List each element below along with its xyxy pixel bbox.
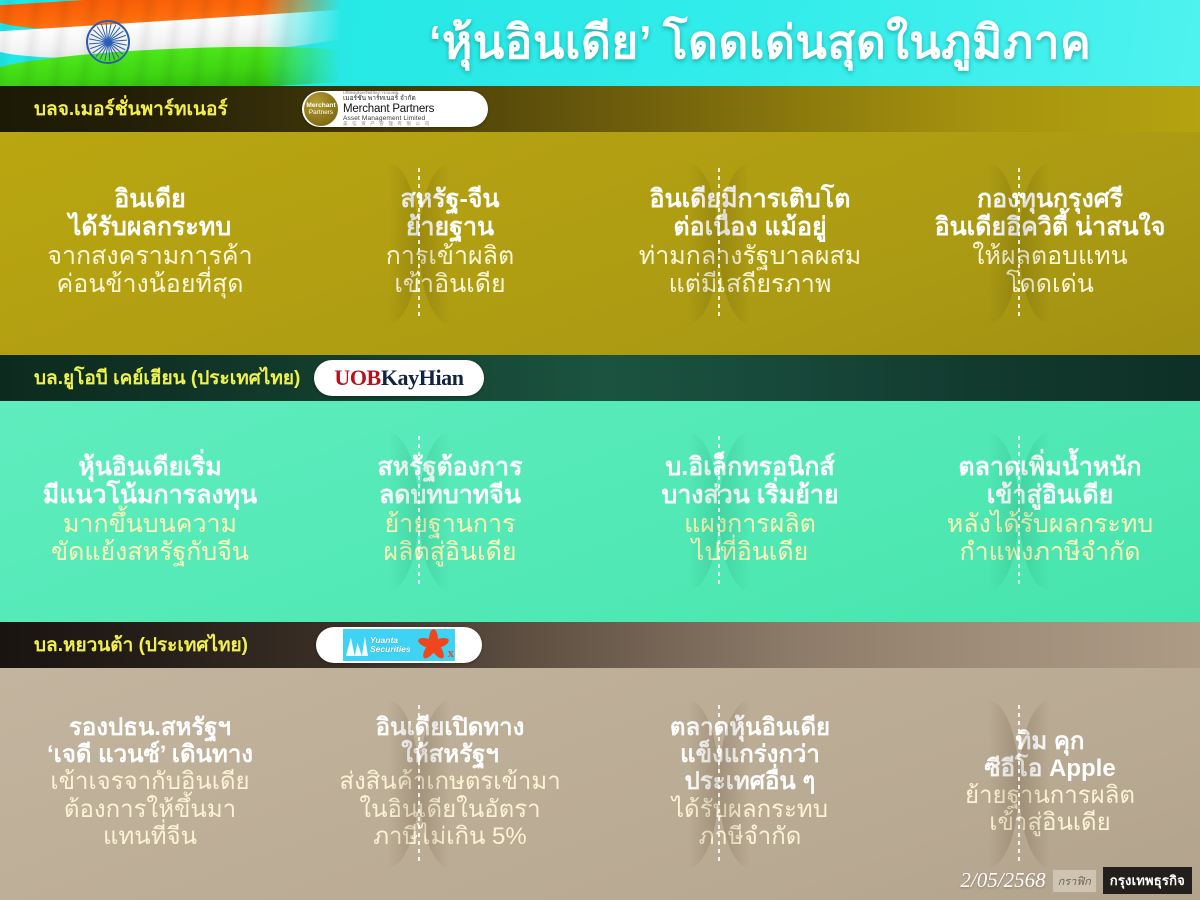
infographic-page: ‘หุ้นอินเดีย’ โดดเด่นสุดในภูมิภาค บลจ.เม… bbox=[0, 0, 1200, 900]
section-header-uob-kay-hian: บล.ยูโอบี เคย์เฮียน (ประเทศไทย) UOBKayHi… bbox=[0, 355, 1200, 401]
insight-card: รองปธน.สหรัฐฯ‘เจดี แวนซ์’ เดินทางเข้าเจร… bbox=[0, 668, 300, 900]
insight-headline-line: ต่อเนื่อง แม้อยู่ bbox=[610, 213, 890, 241]
insight-body-line: เข้าอินเดีย bbox=[310, 270, 590, 298]
insight-card-text: อินเดียเปิดทางให้สหรัฐฯส่งสินค้าเกษตรเข้… bbox=[310, 714, 590, 850]
mp-seal-line2: Partners bbox=[309, 109, 333, 116]
insight-card-text: สหรัฐ-จีนย้ายฐานการเข้าผลิตเข้าอินเดีย bbox=[310, 185, 590, 298]
insight-headline-line: ย้ายฐาน bbox=[310, 213, 590, 241]
insight-body-line: ขัดแย้งสหรัฐกับจีน bbox=[10, 538, 290, 566]
insight-card-text: อินเดียมีการเติบโตต่อเนื่อง แม้อยู่ท่ามก… bbox=[610, 185, 890, 298]
insight-headline-line: บ.อิเล็กทรอนิกส์ bbox=[610, 453, 890, 481]
footer-credit: 2/05/2568 กราฟิก กรุงเทพธุรกิจ bbox=[960, 867, 1192, 894]
insight-card-text: กองทุนกรุงศรีอินเดียอิควิตี้ น่าสนใจให้ผ… bbox=[910, 185, 1190, 298]
insight-card-text: อินเดียได้รับผลกระทบจากสงครามการค้าค่อนข… bbox=[10, 185, 290, 298]
section-header-merchant-partners: บลจ.เมอร์ชั่นพาร์ทเนอร์ Merchant Partner… bbox=[0, 86, 1200, 132]
insight-headline-line: อินเดียอิควิตี้ น่าสนใจ bbox=[910, 213, 1190, 241]
mp-chinese: 美 信 资 产 管 理 有 限 公 司 bbox=[343, 122, 488, 127]
section-band-uob-kay-hian: หุ้นอินเดียเริ่มมีแนวโน้มการลงทุนมากขึ้น… bbox=[0, 401, 1200, 622]
insight-headline-line: หุ้นอินเดียเริ่ม bbox=[10, 453, 290, 481]
yuanta-x-icon: x bbox=[448, 645, 455, 661]
insight-body-line: จากสงครามการค้า bbox=[10, 242, 290, 270]
mp-seal-line1: Merchant bbox=[306, 102, 335, 110]
insight-body-line: ย้ายฐานการผลิต bbox=[910, 782, 1190, 809]
insight-body-line: แผงการผลิต bbox=[610, 510, 890, 538]
insight-body-line: เข้าสู่อินเดีย bbox=[910, 809, 1190, 836]
publication-date: 2/05/2568 bbox=[960, 868, 1045, 893]
insight-card-text: ตลาดหุ้นอินเดียแข็งแกร่งกว่าประเทศอื่น ๆ… bbox=[610, 714, 890, 850]
insight-body-line: ย้ายฐานการ bbox=[310, 510, 590, 538]
insight-card: หุ้นอินเดียเริ่มมีแนวโน้มการลงทุนมากขึ้น… bbox=[0, 401, 300, 622]
insight-headline-line: แข็งแกร่งกว่า bbox=[610, 741, 890, 768]
insight-body-line: ต้องการให้ขึ้นมา bbox=[10, 796, 290, 823]
insight-headline-line: อินเดียเปิดทาง bbox=[310, 714, 590, 741]
insight-body-line: แทนที่จีน bbox=[10, 823, 290, 850]
insight-headline-line: สหรัฐ-จีน bbox=[310, 185, 590, 213]
insight-body-line: เข้าเจรจากับอินเดีย bbox=[10, 768, 290, 795]
insight-card-text: ทิม คุกซีอีโอ Appleย้ายฐานการผลิตเข้าสู่… bbox=[910, 728, 1190, 836]
insight-headline-line: บางส่วน เริ่มย้าย bbox=[610, 481, 890, 509]
insight-body-line: แต่มีเสถียรภาพ bbox=[610, 270, 890, 298]
insight-body-line: ในอินเดียในอัตรา bbox=[310, 796, 590, 823]
insight-headline-line: สหรัฐต้องการ bbox=[310, 453, 590, 481]
brand-logo: กรุงเทพธุรกิจ bbox=[1103, 867, 1192, 894]
section-band-yuanta: รองปธน.สหรัฐฯ‘เจดี แวนซ์’ เดินทางเข้าเจร… bbox=[0, 668, 1200, 900]
uob-dark-part: KayHian bbox=[381, 365, 464, 390]
insight-card-text: สหรัฐต้องการลดบทบาทจีนย้ายฐานการผลิตสู่อ… bbox=[310, 453, 590, 566]
uob-red-part: UOB bbox=[334, 365, 380, 390]
page-title: ‘หุ้นอินเดีย’ โดดเด่นสุดในภูมิภาค bbox=[330, 6, 1190, 78]
insight-headline-line: เข้าสู่อินเดีย bbox=[910, 481, 1190, 509]
insight-card: อินเดียได้รับผลกระทบจากสงครามการค้าค่อนข… bbox=[0, 132, 300, 355]
insight-headline-line: ทิม คุก bbox=[910, 728, 1190, 755]
insight-headline-line: กองทุนกรุงศรี bbox=[910, 185, 1190, 213]
insight-card-text: รองปธน.สหรัฐฯ‘เจดี แวนซ์’ เดินทางเข้าเจร… bbox=[10, 714, 290, 850]
insight-body-line: ไปที่อินเดีย bbox=[610, 538, 890, 566]
insight-card: สหรัฐ-จีนย้ายฐานการเข้าผลิตเข้าอินเดีย bbox=[300, 132, 600, 355]
insight-headline-line: อินเดียมีการเติบโต bbox=[610, 185, 890, 213]
uob-kay-hian-logo: UOBKayHian bbox=[314, 360, 484, 396]
insight-body-line: ได้รับผลกระทบ bbox=[610, 796, 890, 823]
insight-body-line: ท่ามกลางรัฐบาลผสม bbox=[610, 242, 890, 270]
insight-headline-line: ‘เจดี แวนซ์’ เดินทาง bbox=[10, 741, 290, 768]
insight-card: อินเดียมีการเติบโตต่อเนื่อง แม้อยู่ท่ามก… bbox=[600, 132, 900, 355]
section-label-uob-kay-hian: บล.ยูโอบี เคย์เฮียน (ประเทศไทย) bbox=[34, 355, 300, 401]
insight-card: สหรัฐต้องการลดบทบาทจีนย้ายฐานการผลิตสู่อ… bbox=[300, 401, 600, 622]
insight-body-line: ผลิตสู่อินเดีย bbox=[310, 538, 590, 566]
insight-card: บ.อิเล็กทรอนิกส์บางส่วน เริ่มย้ายแผงการผ… bbox=[600, 401, 900, 622]
insight-headline-line: รองปธน.สหรัฐฯ bbox=[10, 714, 290, 741]
merchant-partners-logo: Merchant Partners บริษัทหลักทรัพย์จัดการ… bbox=[302, 91, 488, 127]
insight-card: ตลาดเพิ่มน้ำหนักเข้าสู่อินเดียหลังได้รับ… bbox=[900, 401, 1200, 622]
insight-card: ตลาดหุ้นอินเดียแข็งแกร่งกว่าประเทศอื่น ๆ… bbox=[600, 668, 900, 900]
insight-body-line: โดดเด่น bbox=[910, 270, 1190, 298]
page-header: ‘หุ้นอินเดีย’ โดดเด่นสุดในภูมิภาค bbox=[0, 0, 1200, 86]
graphic-label: กราฟิก bbox=[1052, 869, 1097, 893]
insight-body-line: ภาษีจำกัด bbox=[610, 823, 890, 850]
mp-name: Merchant Partners bbox=[343, 103, 488, 115]
insight-headline-line: ให้สหรัฐฯ bbox=[310, 741, 590, 768]
insight-body-line: มากขึ้นบนความ bbox=[10, 510, 290, 538]
section-label-merchant-partners: บลจ.เมอร์ชั่นพาร์ทเนอร์ bbox=[34, 86, 228, 132]
insight-card-text: ตลาดเพิ่มน้ำหนักเข้าสู่อินเดียหลังได้รับ… bbox=[910, 453, 1190, 566]
insight-headline-line: ประเทศอื่น ๆ bbox=[610, 768, 890, 795]
section-header-yuanta: บล.หยวนต้า (ประเทศไทย) Yuanta Securities… bbox=[0, 622, 1200, 668]
insight-body-line: ส่งสินค้าเกษตรเข้ามา bbox=[310, 768, 590, 795]
yuanta-word2: Securities bbox=[370, 645, 411, 654]
insight-headline-line: ตลาดหุ้นอินเดีย bbox=[610, 714, 890, 741]
insight-headline-line: ลดบทบาทจีน bbox=[310, 481, 590, 509]
yuanta-securities-logo: Yuanta Securities x bbox=[316, 627, 482, 663]
insight-body-line: กำแพงภาษีจำกัด bbox=[910, 538, 1190, 566]
india-flag-icon bbox=[0, 0, 352, 86]
insight-headline-line: อินเดีย bbox=[10, 185, 290, 213]
insight-headline-line: ซีอีโอ Apple bbox=[910, 755, 1190, 782]
merchant-partners-seal: Merchant Partners bbox=[304, 92, 338, 126]
insight-body-line: ภาษีไม่เกิน 5% bbox=[310, 823, 590, 850]
section-label-yuanta: บล.หยวนต้า (ประเทศไทย) bbox=[34, 622, 248, 668]
insight-headline-line: ได้รับผลกระทบ bbox=[10, 213, 290, 241]
insight-body-line: การเข้าผลิต bbox=[310, 242, 590, 270]
section-band-merchant-partners: อินเดียได้รับผลกระทบจากสงครามการค้าค่อนข… bbox=[0, 132, 1200, 355]
insight-body-line: หลังได้รับผลกระทบ bbox=[910, 510, 1190, 538]
insight-headline-line: มีแนวโน้มการลงทุน bbox=[10, 481, 290, 509]
yuanta-mark-icon bbox=[346, 634, 368, 656]
mp-thai-name: เมอร์ชั่น พาร์ทเนอร์ จำกัด bbox=[343, 95, 488, 102]
insight-body-line: ค่อนข้างน้อยที่สุด bbox=[10, 270, 290, 298]
insight-card-text: หุ้นอินเดียเริ่มมีแนวโน้มการลงทุนมากขึ้น… bbox=[10, 453, 290, 566]
insight-card: อินเดียเปิดทางให้สหรัฐฯส่งสินค้าเกษตรเข้… bbox=[300, 668, 600, 900]
insight-card-text: บ.อิเล็กทรอนิกส์บางส่วน เริ่มย้ายแผงการผ… bbox=[610, 453, 890, 566]
insight-body-line: ให้ผลตอบแทน bbox=[910, 242, 1190, 270]
insight-headline-line: ตลาดเพิ่มน้ำหนัก bbox=[910, 453, 1190, 481]
insight-card: ทิม คุกซีอีโอ Appleย้ายฐานการผลิตเข้าสู่… bbox=[900, 668, 1200, 900]
insight-card: กองทุนกรุงศรีอินเดียอิควิตี้ น่าสนใจให้ผ… bbox=[900, 132, 1200, 355]
